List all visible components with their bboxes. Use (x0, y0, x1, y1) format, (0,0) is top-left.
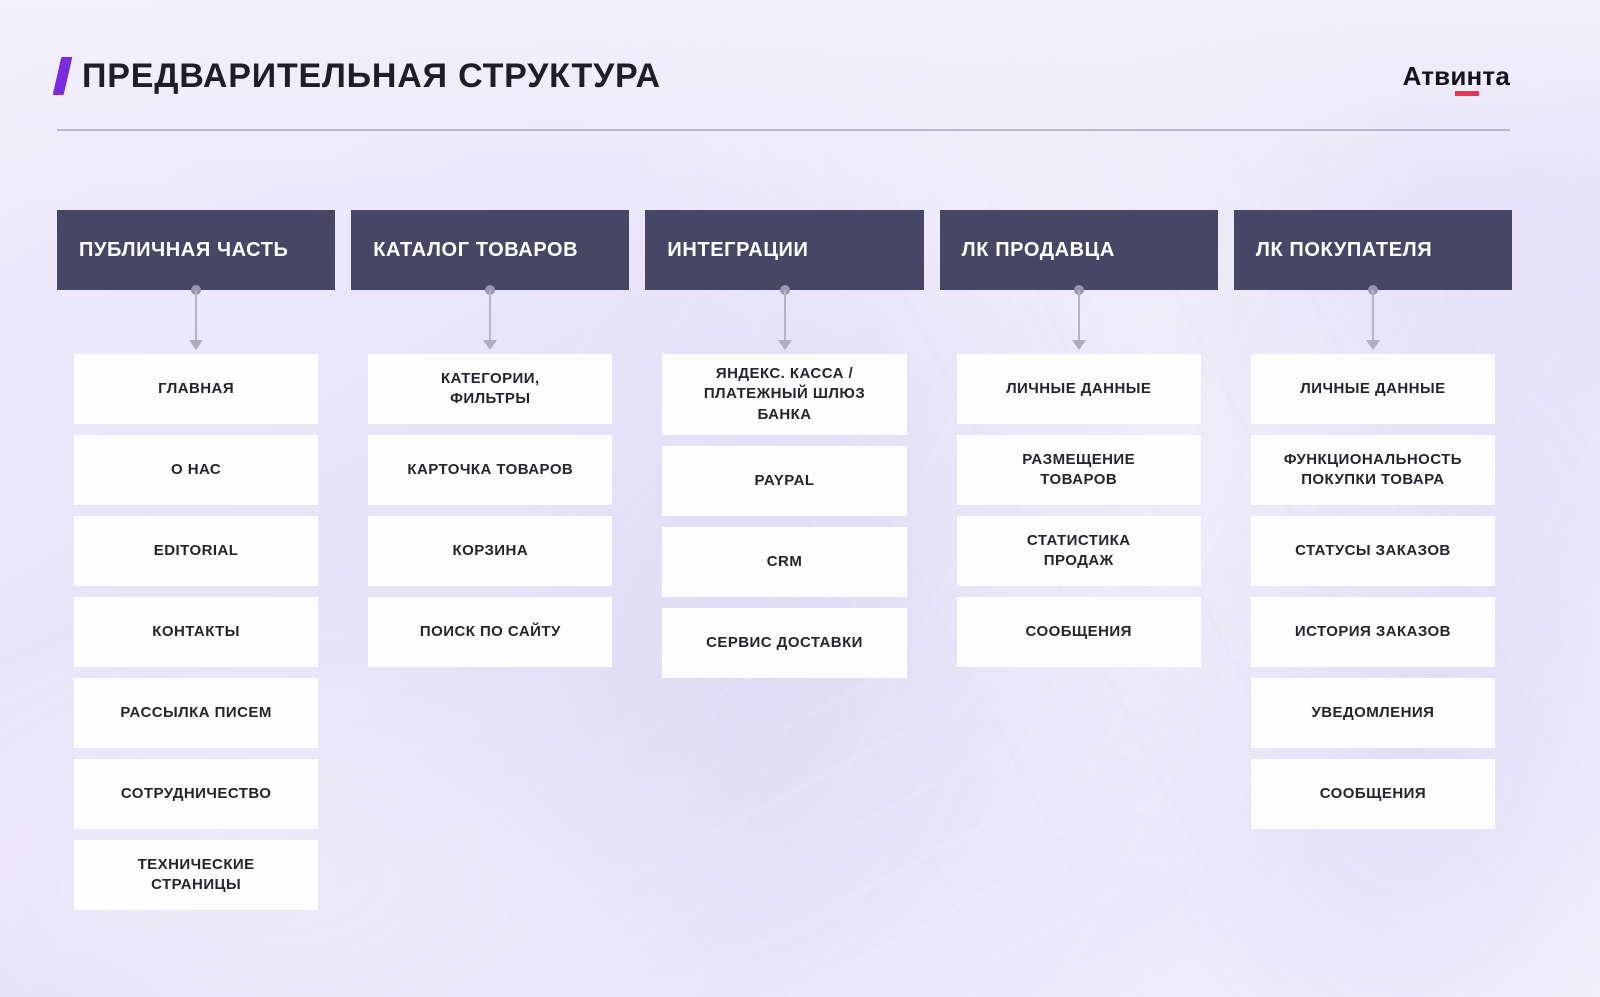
connector-seller-account (940, 290, 1218, 354)
connector-public (57, 290, 335, 354)
card-list-public: ГЛАВНАЯ О НАС EDITORIAL КОНТАКТЫ РАССЫЛК… (74, 354, 318, 910)
card-label: СТАТУСЫ ЗАКАЗОВ (1295, 541, 1451, 561)
diagram-column-public: ПУБЛИЧНАЯ ЧАСТЬ ГЛАВНАЯ О НАС EDITORIAL … (57, 210, 335, 910)
slide-root: ПРЕДВАРИТЕЛЬНАЯ СТРУКТУРА Атвинта ПУБЛИЧ… (0, 0, 1600, 997)
list-item[interactable]: КАТЕГОРИИ, ФИЛЬТРЫ (368, 354, 612, 424)
connector-line-icon (1078, 290, 1080, 344)
card-list-seller-account: ЛИЧНЫЕ ДАННЫЕ РАЗМЕЩЕНИЕ ТОВАРОВ СТАТИСТ… (957, 354, 1201, 667)
connector-arrow-icon (1366, 340, 1380, 350)
card-label: EDITORIAL (154, 541, 239, 561)
list-item[interactable]: СЕРВИС ДОСТАВКИ (662, 608, 906, 678)
card-label: ЛИЧНЫЕ ДАННЫЕ (1006, 379, 1151, 399)
list-item[interactable]: КАРТОЧКА ТОВАРОВ (368, 435, 612, 505)
card-list-catalog: КАТЕГОРИИ, ФИЛЬТРЫ КАРТОЧКА ТОВАРОВ КОРЗ… (368, 354, 612, 667)
card-label: КАРТОЧКА ТОВАРОВ (407, 460, 573, 480)
list-item[interactable]: СТАТУСЫ ЗАКАЗОВ (1251, 516, 1495, 586)
page-title: ПРЕДВАРИТЕЛЬНАЯ СТРУКТУРА (82, 59, 661, 93)
card-list-integrations: ЯНДЕКС. КАССА / ПЛАТЕЖНЫЙ ШЛЮЗ БАНКА PAY… (662, 354, 906, 678)
card-label: CRM (767, 552, 803, 572)
connector-line-icon (195, 290, 197, 344)
column-header-label: ЛК ПРОДАВЦА (962, 239, 1115, 261)
card-label: PAYPAL (755, 471, 815, 491)
diagram-column-buyer-account: ЛК ПОКУПАТЕЛЯ ЛИЧНЫЕ ДАННЫЕ ФУНКЦИОНАЛЬН… (1234, 210, 1512, 829)
connector-catalog (351, 290, 629, 354)
list-item[interactable]: ПОИСК ПО САЙТУ (368, 597, 612, 667)
card-label: ПОИСК ПО САЙТУ (420, 622, 561, 642)
card-label: ЯНДЕКС. КАССА / ПЛАТЕЖНЫЙ ШЛЮЗ БАНКА (704, 364, 865, 425)
card-label: СЕРВИС ДОСТАВКИ (706, 633, 863, 653)
connector-arrow-icon (778, 340, 792, 350)
list-item[interactable]: СООБЩЕНИЯ (1251, 759, 1495, 829)
structure-diagram: ПУБЛИЧНАЯ ЧАСТЬ ГЛАВНАЯ О НАС EDITORIAL … (57, 210, 1512, 910)
column-header-label: ПУБЛИЧНАЯ ЧАСТЬ (79, 239, 289, 261)
connector-line-icon (489, 290, 491, 344)
list-item[interactable]: СООБЩЕНИЯ (957, 597, 1201, 667)
list-item[interactable]: УВЕДОМЛЕНИЯ (1251, 678, 1495, 748)
header-divider (57, 129, 1510, 131)
list-item[interactable]: ФУНКЦИОНАЛЬНОСТЬ ПОКУПКИ ТОВАРА (1251, 435, 1495, 505)
diagram-column-integrations: ИНТЕГРАЦИИ ЯНДЕКС. КАССА / ПЛАТЕЖНЫЙ ШЛЮ… (645, 210, 923, 678)
card-label: СООБЩЕНИЯ (1026, 622, 1132, 642)
card-label: ТЕХНИЧЕСКИЕ СТРАНИЦЫ (138, 855, 255, 896)
connector-line-icon (1372, 290, 1374, 344)
column-header-integrations[interactable]: ИНТЕГРАЦИИ (645, 210, 923, 290)
list-item[interactable]: ИСТОРИЯ ЗАКАЗОВ (1251, 597, 1495, 667)
connector-line-icon (784, 290, 786, 344)
title-group: ПРЕДВАРИТЕЛЬНАЯ СТРУКТУРА (57, 57, 661, 95)
connector-integrations (645, 290, 923, 354)
list-item[interactable]: ГЛАВНАЯ (74, 354, 318, 424)
list-item[interactable]: CRM (662, 527, 906, 597)
card-label: О НАС (171, 460, 221, 480)
list-item[interactable]: РАССЫЛКА ПИСЕМ (74, 678, 318, 748)
connector-buyer-account (1234, 290, 1512, 354)
connector-arrow-icon (189, 340, 203, 350)
card-label: СТАТИСТИКА ПРОДАЖ (1027, 531, 1131, 572)
card-label: ИСТОРИЯ ЗАКАЗОВ (1295, 622, 1451, 642)
card-label: УВЕДОМЛЕНИЯ (1311, 703, 1434, 723)
brand-logo-text: Атвинта (1403, 61, 1510, 91)
column-header-seller-account[interactable]: ЛК ПРОДАВЦА (940, 210, 1218, 290)
list-item[interactable]: КОРЗИНА (368, 516, 612, 586)
column-header-catalog[interactable]: КАТАЛОГ ТОВАРОВ (351, 210, 629, 290)
card-label: ЛИЧНЫЕ ДАННЫЕ (1300, 379, 1445, 399)
list-item[interactable]: PAYPAL (662, 446, 906, 516)
card-label: ФУНКЦИОНАЛЬНОСТЬ ПОКУПКИ ТОВАРА (1284, 450, 1462, 491)
column-header-label: ИНТЕГРАЦИИ (667, 239, 808, 261)
list-item[interactable]: EDITORIAL (74, 516, 318, 586)
card-label: ГЛАВНАЯ (158, 379, 234, 399)
list-item[interactable]: О НАС (74, 435, 318, 505)
card-label: КОРЗИНА (452, 541, 528, 561)
list-item[interactable]: ЛИЧНЫЕ ДАННЫЕ (957, 354, 1201, 424)
card-label: КОНТАКТЫ (152, 622, 240, 642)
connector-arrow-icon (1072, 340, 1086, 350)
column-header-public[interactable]: ПУБЛИЧНАЯ ЧАСТЬ (57, 210, 335, 290)
card-label: РАЗМЕЩЕНИЕ ТОВАРОВ (1022, 450, 1135, 491)
slide-header: ПРЕДВАРИТЕЛЬНАЯ СТРУКТУРА Атвинта (57, 45, 1510, 107)
brand-logo-accent-underline (1455, 91, 1479, 96)
diagram-column-seller-account: ЛК ПРОДАВЦА ЛИЧНЫЕ ДАННЫЕ РАЗМЕЩЕНИЕ ТОВ… (940, 210, 1218, 667)
purple-slash-icon (53, 57, 73, 95)
list-item[interactable]: СОТРУДНИЧЕСТВО (74, 759, 318, 829)
list-item[interactable]: РАЗМЕЩЕНИЕ ТОВАРОВ (957, 435, 1201, 505)
card-label: РАССЫЛКА ПИСЕМ (120, 703, 271, 723)
column-header-label: ЛК ПОКУПАТЕЛЯ (1256, 239, 1432, 261)
card-label: СООБЩЕНИЯ (1320, 784, 1426, 804)
card-label: СОТРУДНИЧЕСТВО (121, 784, 272, 804)
card-list-buyer-account: ЛИЧНЫЕ ДАННЫЕ ФУНКЦИОНАЛЬНОСТЬ ПОКУПКИ Т… (1251, 354, 1495, 829)
card-label: КАТЕГОРИИ, ФИЛЬТРЫ (441, 369, 540, 410)
list-item[interactable]: СТАТИСТИКА ПРОДАЖ (957, 516, 1201, 586)
column-header-buyer-account[interactable]: ЛК ПОКУПАТЕЛЯ (1234, 210, 1512, 290)
list-item[interactable]: ЯНДЕКС. КАССА / ПЛАТЕЖНЫЙ ШЛЮЗ БАНКА (662, 354, 906, 435)
diagram-column-catalog: КАТАЛОГ ТОВАРОВ КАТЕГОРИИ, ФИЛЬТРЫ КАРТО… (351, 210, 629, 667)
connector-arrow-icon (483, 340, 497, 350)
column-header-label: КАТАЛОГ ТОВАРОВ (373, 239, 578, 261)
brand-logo: Атвинта (1403, 63, 1510, 89)
list-item[interactable]: КОНТАКТЫ (74, 597, 318, 667)
list-item[interactable]: ЛИЧНЫЕ ДАННЫЕ (1251, 354, 1495, 424)
list-item[interactable]: ТЕХНИЧЕСКИЕ СТРАНИЦЫ (74, 840, 318, 910)
